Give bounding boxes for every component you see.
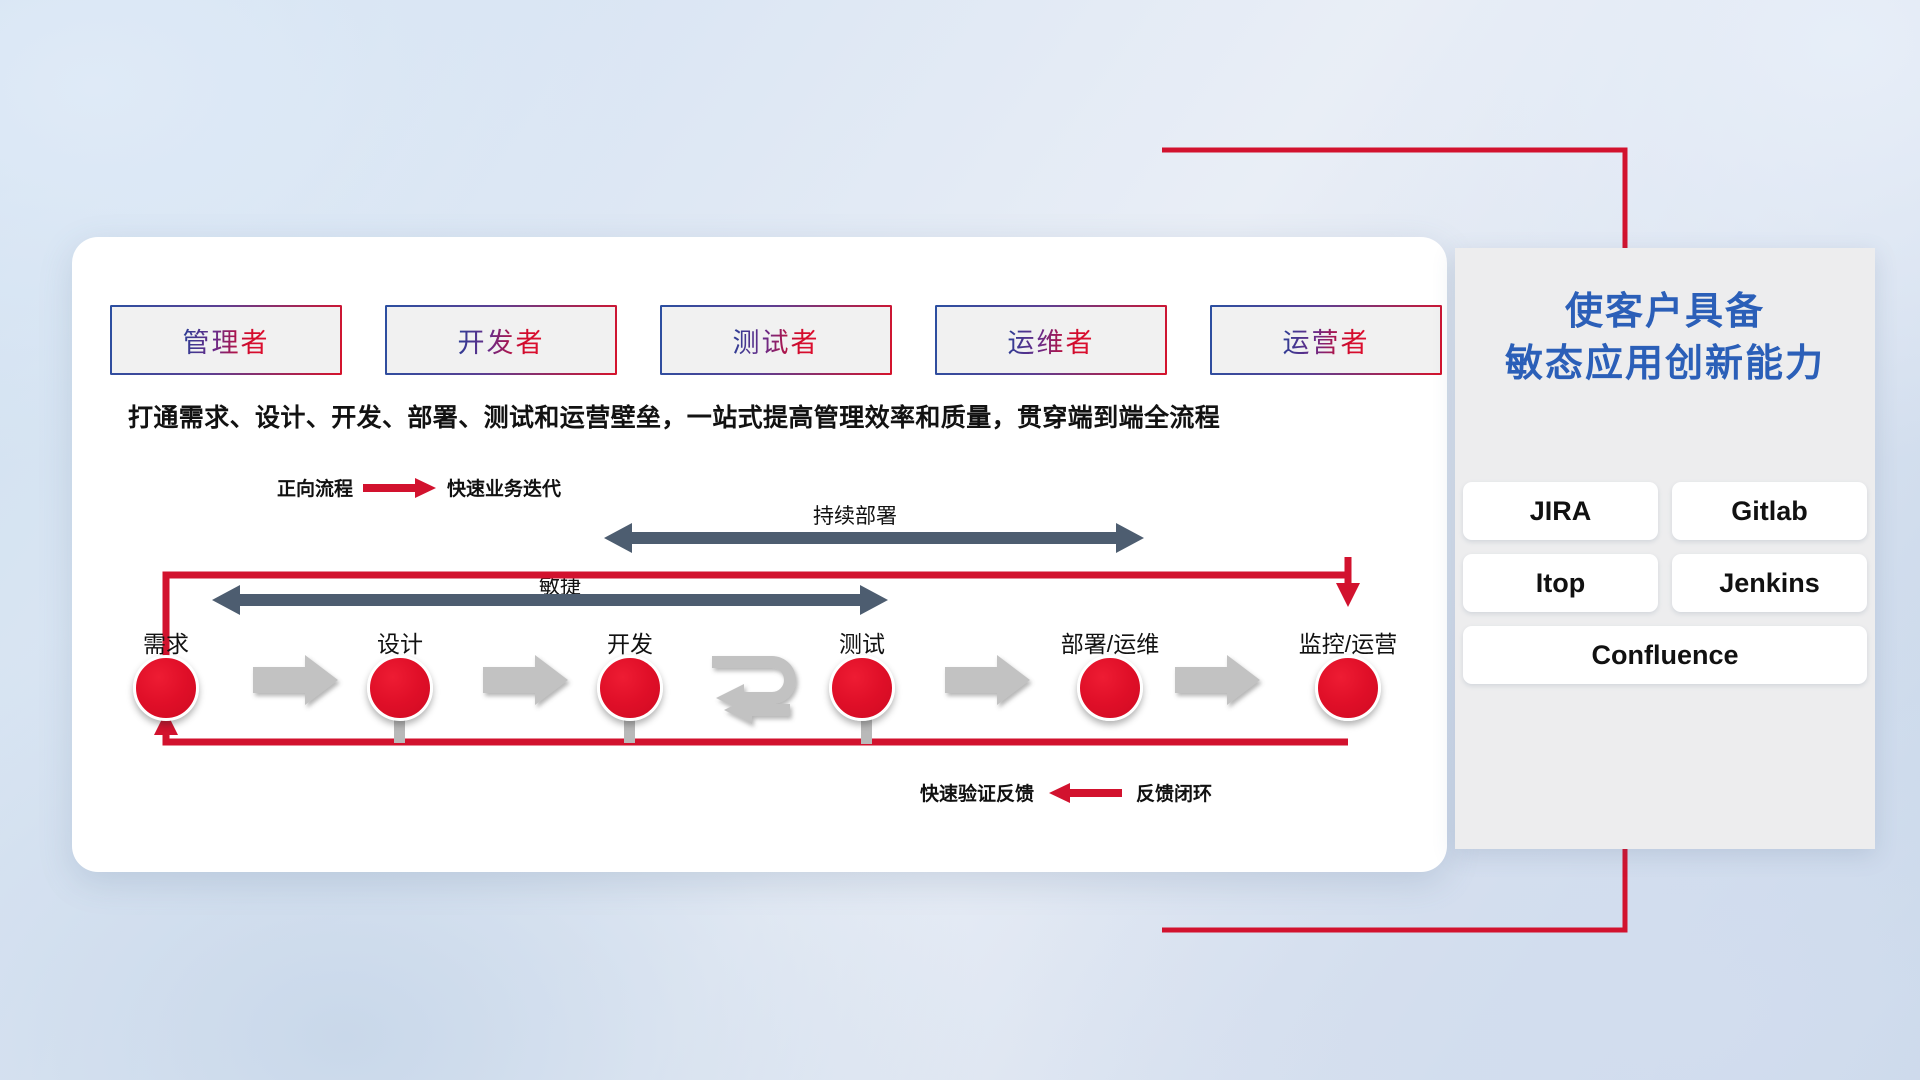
stage-label-testing: 测试 bbox=[839, 625, 885, 659]
tool-label-jira: JIRA bbox=[1530, 496, 1592, 527]
flow-arrow-5 bbox=[1175, 655, 1260, 705]
stage-dot-requirements[interactable] bbox=[133, 655, 199, 721]
stage-dot-design[interactable] bbox=[367, 655, 433, 721]
tool-gitlab[interactable]: Gitlab bbox=[1672, 482, 1867, 540]
band-arrow-continuous-deployment bbox=[604, 523, 1144, 553]
stage-dot-development[interactable] bbox=[597, 655, 663, 721]
band-arrow-agile bbox=[212, 585, 888, 615]
capability-panel-title: 使客户具备 敏态应用创新能力 bbox=[1455, 286, 1875, 391]
stage-label-requirements: 需求 bbox=[143, 625, 189, 659]
tool-jenkins[interactable]: Jenkins bbox=[1672, 554, 1867, 612]
flow-arrow-1 bbox=[253, 655, 338, 705]
tool-label-itop: Itop bbox=[1536, 568, 1585, 599]
stage-label-monitor-operations: 监控/运营 bbox=[1299, 625, 1397, 659]
tool-label-confluence: Confluence bbox=[1591, 640, 1738, 671]
panel-title-line1: 使客户具备 bbox=[1455, 286, 1875, 338]
stage-label-development: 开发 bbox=[607, 625, 653, 659]
tool-jira[interactable]: JIRA bbox=[1463, 482, 1658, 540]
loop-arrow-dev-test bbox=[712, 656, 796, 724]
stage-dot-monitor-operations[interactable] bbox=[1315, 655, 1381, 721]
tool-list: JIRA Gitlab Itop Jenkins Confluence bbox=[1463, 482, 1867, 684]
flow-arrow-2 bbox=[483, 655, 568, 705]
tool-label-gitlab: Gitlab bbox=[1731, 496, 1808, 527]
tool-itop[interactable]: Itop bbox=[1463, 554, 1658, 612]
tool-confluence[interactable]: Confluence bbox=[1463, 626, 1867, 684]
slide-canvas: 管理者 开发者 测试者 运维者 运营者 打通需求、设计、开发、部署、测试和运营壁… bbox=[0, 0, 1920, 1080]
flow-arrow-4 bbox=[945, 655, 1030, 705]
stage-dot-deploy-ops[interactable] bbox=[1077, 655, 1143, 721]
stage-label-design: 设计 bbox=[377, 625, 423, 659]
stage-label-deploy-ops: 部署/运维 bbox=[1061, 625, 1159, 659]
stage-dot-testing[interactable] bbox=[829, 655, 895, 721]
tool-label-jenkins: Jenkins bbox=[1719, 568, 1820, 599]
panel-title-line2: 敏态应用创新能力 bbox=[1455, 338, 1875, 390]
